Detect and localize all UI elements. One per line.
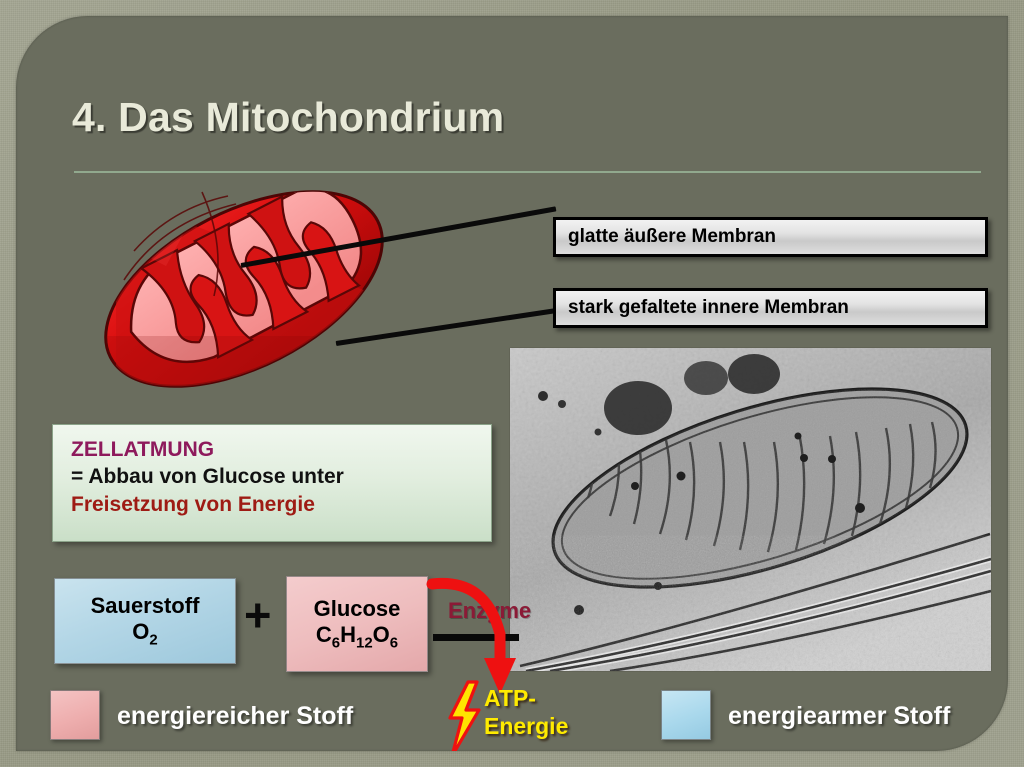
- atp-line-2: Energie: [484, 712, 568, 740]
- reactant-glucose-name: Glucose: [314, 596, 401, 622]
- oxygen-subscript: 2: [149, 631, 157, 648]
- glucose-c: C: [316, 622, 332, 647]
- mitochondrion-electron-micrograph: [510, 348, 991, 671]
- reactant-glucose-formula: C6H12O6: [316, 622, 398, 652]
- reactant-box-glucose: Glucose C6H12O6: [286, 576, 428, 672]
- page-title: 4. Das Mitochondrium: [72, 94, 504, 141]
- presentation-slide: 4. Das Mitochondrium: [0, 0, 1024, 767]
- legend-swatch-energy-poor: [661, 690, 711, 740]
- callout-outer-membrane[interactable]: glatte äußere Membran: [553, 217, 988, 257]
- callout-outer-membrane-label: glatte äußere Membran: [568, 226, 776, 248]
- slide-content-panel: 4. Das Mitochondrium: [16, 16, 1008, 751]
- zellatmung-bottom-line: Freisetzung von Energie: [71, 491, 491, 518]
- zellatmung-definition-box: ZELLATMUNG = Abbau von Glucose unter Fre…: [52, 424, 492, 542]
- mitochondrion-cutaway-illustration: [76, 156, 436, 426]
- oxygen-element: O: [132, 619, 149, 644]
- glucose-h-sub: 12: [356, 634, 373, 651]
- reactant-oxygen-name: Sauerstoff: [91, 593, 200, 619]
- callout-inner-membrane-label: stark gefaltete innere Membran: [568, 297, 849, 319]
- glucose-o-sub: 6: [390, 634, 398, 651]
- zellatmung-middle-line: = Abbau von Glucose unter: [71, 463, 491, 490]
- atp-energy-label: ATP- Energie: [484, 684, 568, 740]
- callout-inner-membrane[interactable]: stark gefaltete innere Membran: [553, 288, 988, 328]
- glucose-h: H: [340, 622, 356, 647]
- energy-release-arrow-icon: [426, 576, 556, 696]
- plus-operator: +: [244, 591, 271, 638]
- legend-label-energy-rich: energiereicher Stoff: [117, 702, 353, 731]
- zellatmung-heading: ZELLATMUNG: [71, 436, 491, 463]
- legend-label-energy-poor: energiearmer Stoff: [728, 702, 950, 731]
- reactant-oxygen-formula: O2: [132, 619, 157, 649]
- glucose-o: O: [373, 622, 390, 647]
- legend-swatch-energy-rich: [50, 690, 100, 740]
- lightning-bolt-icon: [446, 680, 482, 751]
- atp-line-1: ATP-: [484, 684, 568, 712]
- reactant-box-oxygen: Sauerstoff O2: [54, 578, 236, 664]
- glucose-c-sub: 6: [332, 634, 340, 651]
